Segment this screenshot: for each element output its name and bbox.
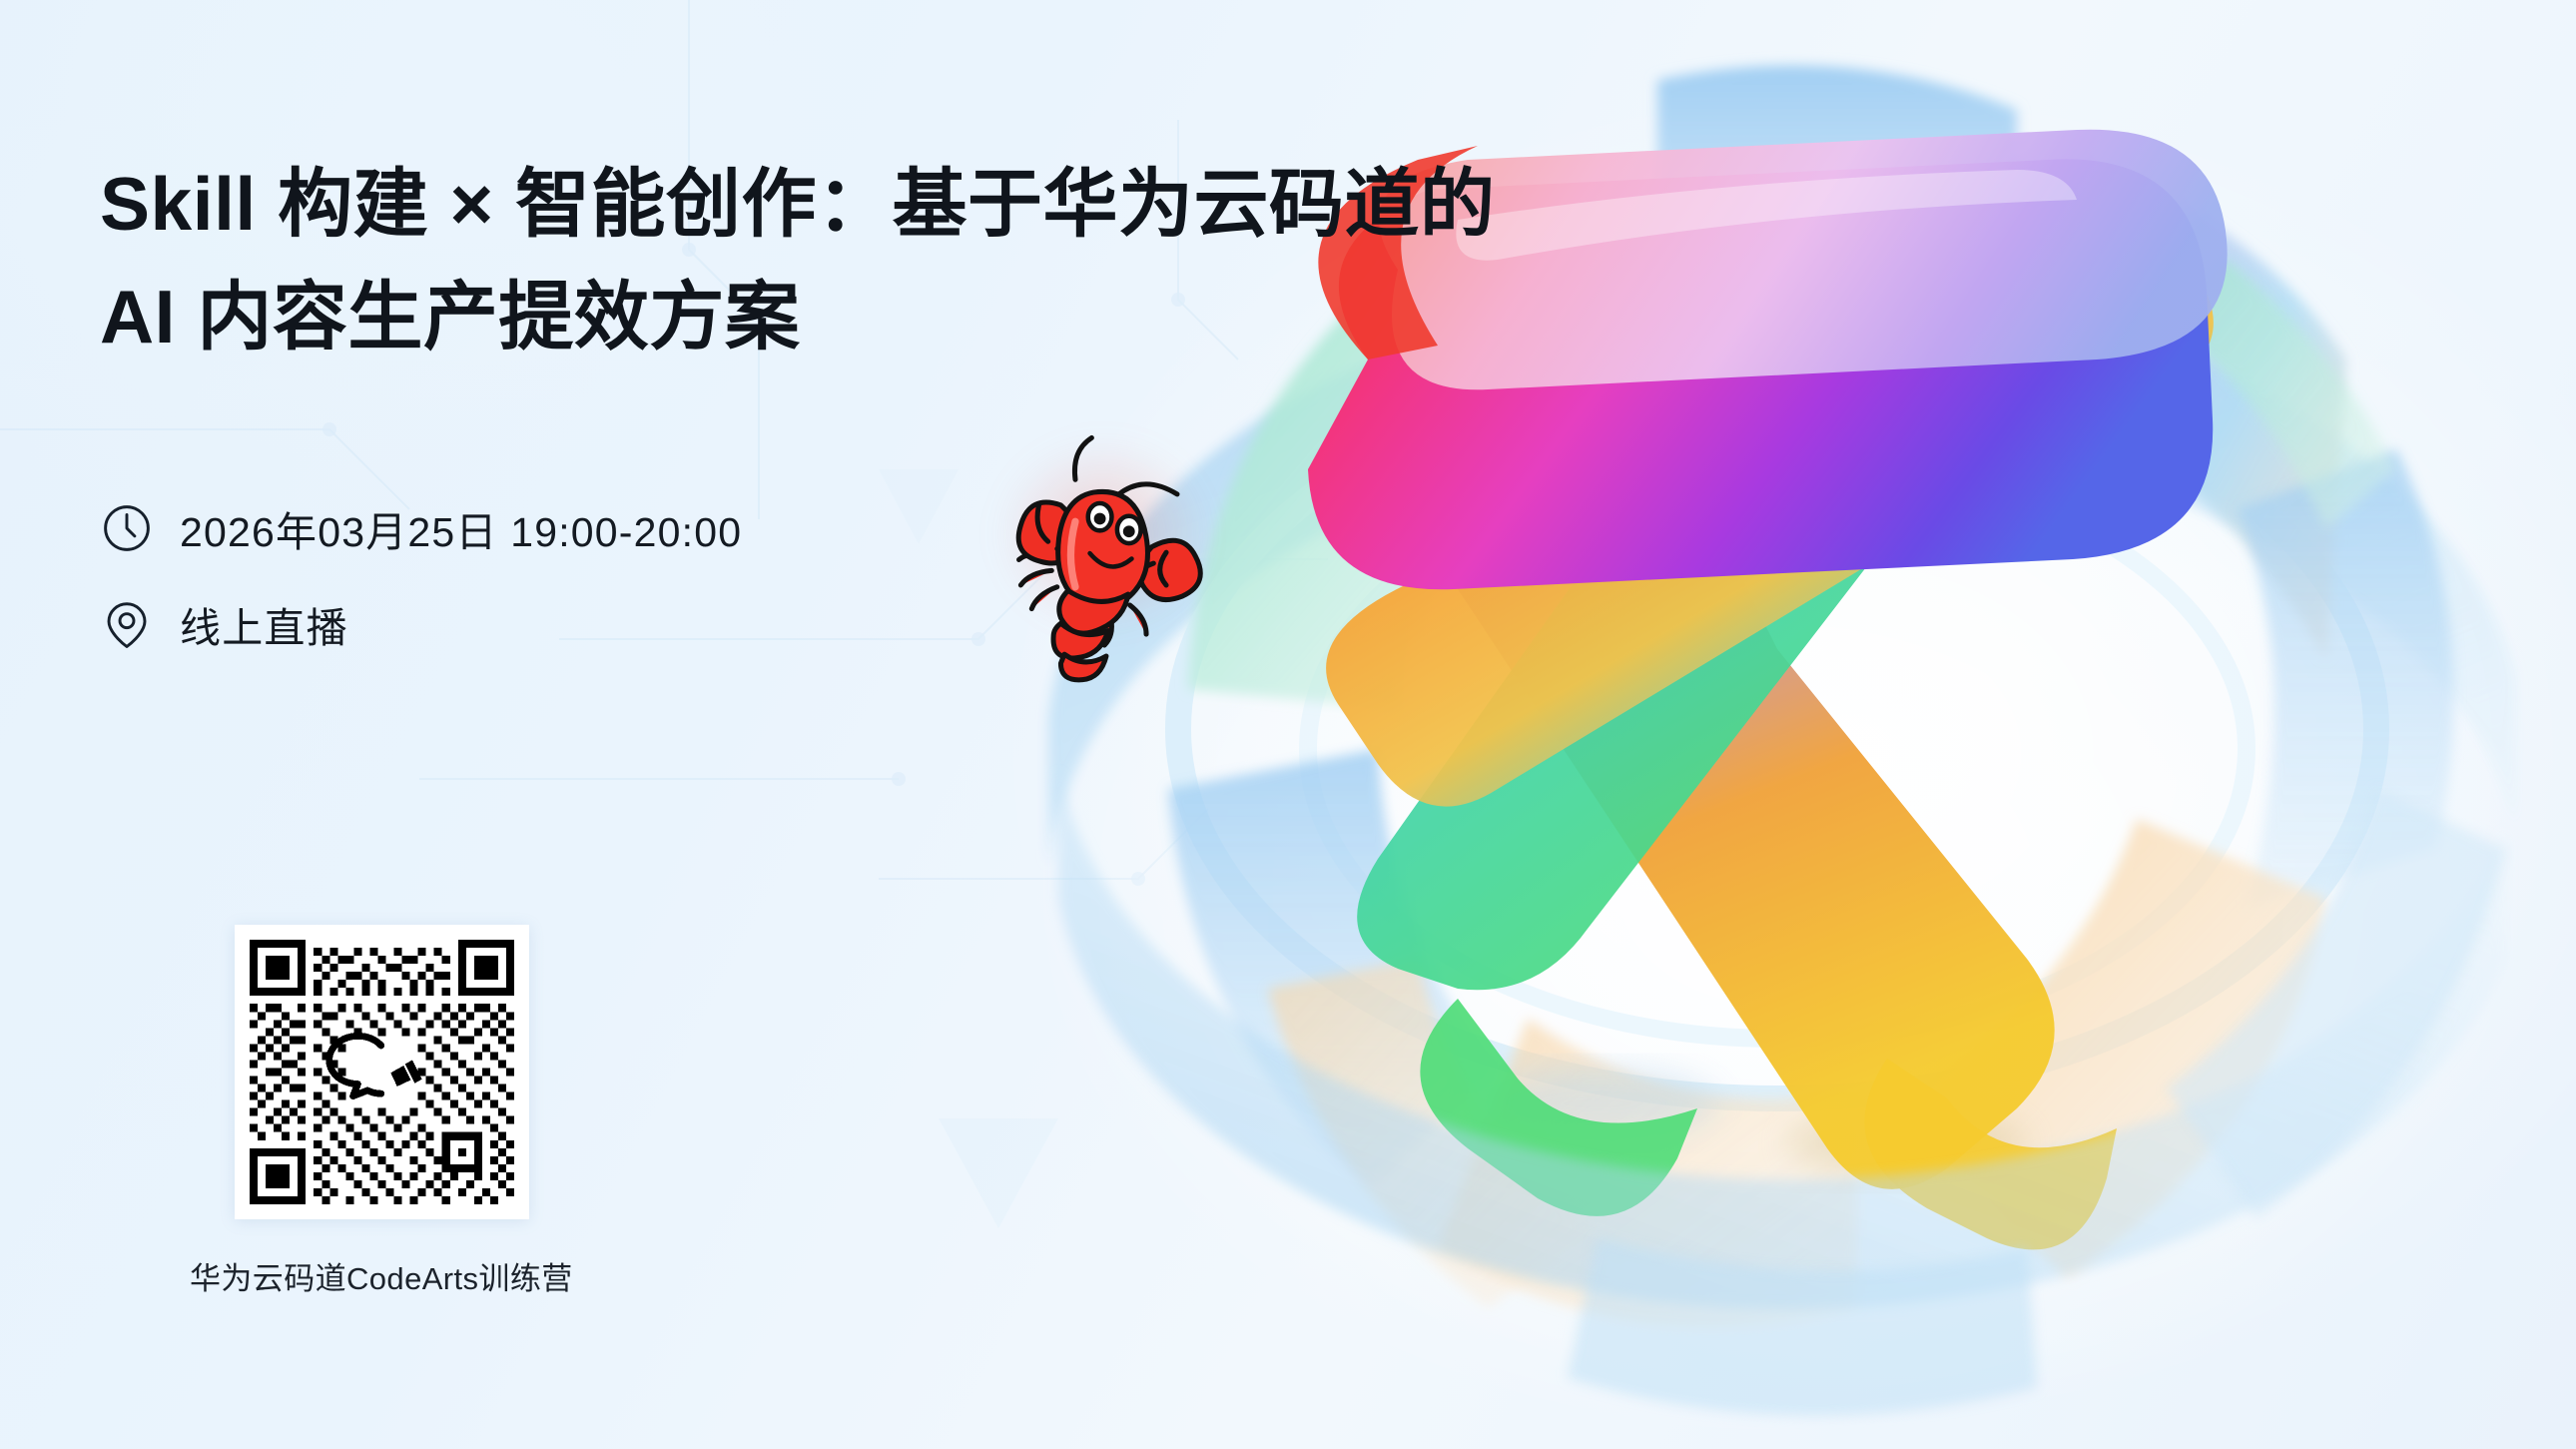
qr-code-matrix	[250, 940, 514, 1204]
banner-title-line-1: Skill 构建 × 智能创作：基于华为云码道的	[100, 148, 1348, 261]
event-datetime-text: 2026年03月25日 19:00-20:00	[180, 498, 742, 558]
location-pin-icon	[100, 597, 154, 651]
lobster-mascot	[973, 424, 1228, 684]
qr-section: 华为云码道CodeArts训练营	[235, 925, 569, 1298]
event-banner: Skill 构建 × 智能创作：基于华为云码道的 AI 内容生产提效方案 202…	[0, 0, 2576, 1449]
banner-title-line-2: AI 内容生产提效方案	[100, 261, 1348, 373]
event-location-text: 线上直播	[180, 594, 348, 654]
qr-caption: 华为云码道CodeArts训练营	[190, 1253, 569, 1298]
qr-code[interactable]	[235, 925, 529, 1219]
clock-icon	[100, 501, 154, 555]
